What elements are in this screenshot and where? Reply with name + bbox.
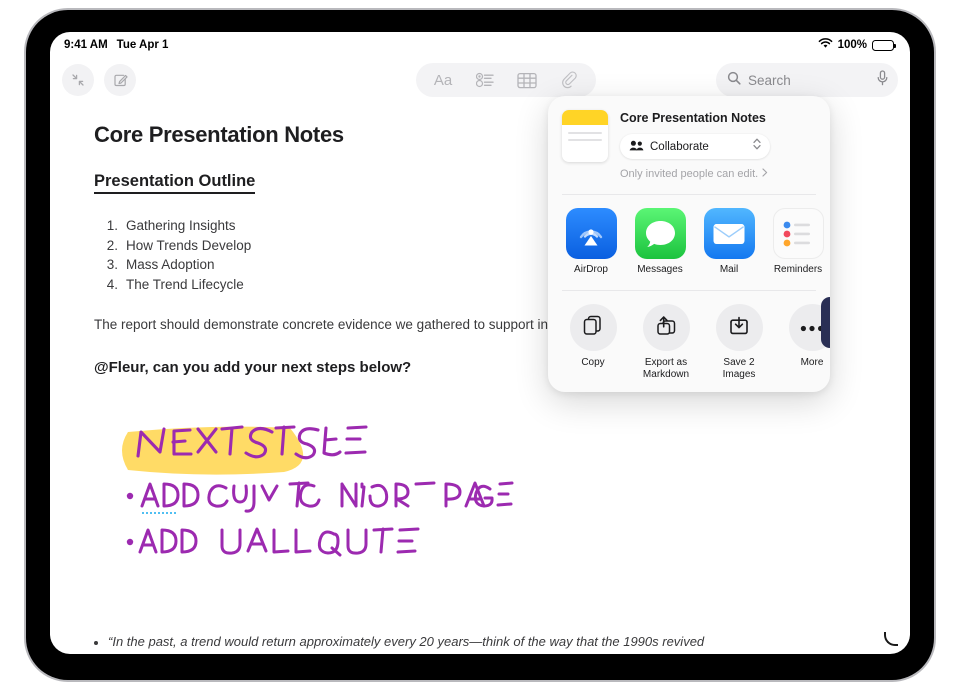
app-label: Messages: [633, 264, 687, 276]
permission-text: Only invited people can edit.: [620, 168, 758, 180]
chevron-right-icon: [762, 168, 768, 180]
quote-text: “In the past, a trend would return appro…: [108, 632, 714, 654]
action-label: Copy: [564, 357, 622, 369]
mail-icon: [704, 208, 755, 259]
handwriting-annotations: [94, 414, 864, 564]
status-time: 9:41 AM: [64, 39, 108, 51]
airdrop-icon: [566, 208, 617, 259]
action-copy[interactable]: Copy: [564, 304, 622, 380]
search-field[interactable]: Search: [716, 63, 898, 97]
checklist-icon[interactable]: [464, 63, 506, 97]
status-date: Tue Apr 1: [117, 39, 169, 51]
battery-icon: [872, 40, 894, 51]
bullet-dot-icon: [94, 641, 98, 645]
format-toolbar: Aa: [416, 63, 596, 97]
table-icon[interactable]: [506, 63, 548, 97]
section-heading: Presentation Outline: [94, 172, 255, 194]
action-label: Export as Markdown: [637, 357, 695, 380]
app-label: AirDrop: [564, 264, 618, 276]
share-note-title: Core Presentation Notes: [620, 111, 816, 125]
reminders-icon: [773, 208, 824, 259]
action-label: Save 2 Images: [710, 357, 768, 380]
status-bar: 9:41 AM Tue Apr 1 100%: [50, 32, 910, 58]
share-app-row: AirDrop Messages Mail: [548, 195, 830, 286]
microphone-icon[interactable]: [876, 70, 889, 91]
ink-bullet-2: [127, 529, 418, 555]
share-sheet: Core Presentation Notes Collaborate: [548, 96, 830, 392]
share-target-messages[interactable]: Messages: [633, 208, 687, 276]
screen: 9:41 AM Tue Apr 1 100%: [50, 32, 910, 654]
battery-percent: 100%: [838, 39, 867, 51]
ink-svg: [94, 414, 514, 564]
device-frame: 9:41 AM Tue Apr 1 100%: [24, 8, 936, 682]
share-target-airdrop[interactable]: AirDrop: [564, 208, 618, 276]
collapse-arrows-icon[interactable]: [62, 64, 94, 96]
notes-document-icon: [562, 110, 608, 162]
format-text-button[interactable]: Aa: [422, 63, 464, 97]
app-label: Reminders: [771, 264, 825, 276]
search-input[interactable]: Search: [748, 73, 869, 88]
compose-icon[interactable]: [104, 64, 136, 96]
share-sheet-header: Core Presentation Notes Collaborate: [548, 96, 830, 190]
collaborate-dropdown[interactable]: Collaborate: [620, 134, 770, 159]
messages-icon: [635, 208, 686, 259]
action-label: More: [783, 357, 830, 369]
action-export-markdown[interactable]: Export as Markdown: [637, 304, 695, 380]
action-save-images[interactable]: Save 2 Images: [710, 304, 768, 380]
search-icon: [727, 71, 741, 90]
device-bezel: 9:41 AM Tue Apr 1 100%: [26, 10, 934, 680]
ink-bullet-1: [127, 483, 512, 513]
export-icon: [655, 314, 678, 342]
wifi-icon: [818, 38, 833, 52]
save-download-icon: [728, 314, 750, 341]
clipped-app-icon[interactable]: [821, 297, 830, 348]
copy-icon: [582, 314, 604, 341]
collaborate-label: Collaborate: [650, 141, 752, 153]
permission-link[interactable]: Only invited people can edit.: [620, 168, 816, 180]
quote-bullet-item: “In the past, a trend would return appro…: [94, 632, 714, 654]
share-action-row: Copy Export as Markdown: [548, 291, 830, 390]
paperclip-icon[interactable]: [548, 63, 590, 97]
app-label: Mail: [702, 264, 756, 276]
share-target-mail[interactable]: Mail: [702, 208, 756, 276]
chevron-updown-icon: [752, 137, 762, 156]
share-target-reminders[interactable]: Reminders: [771, 208, 825, 276]
people-icon: [629, 138, 644, 156]
